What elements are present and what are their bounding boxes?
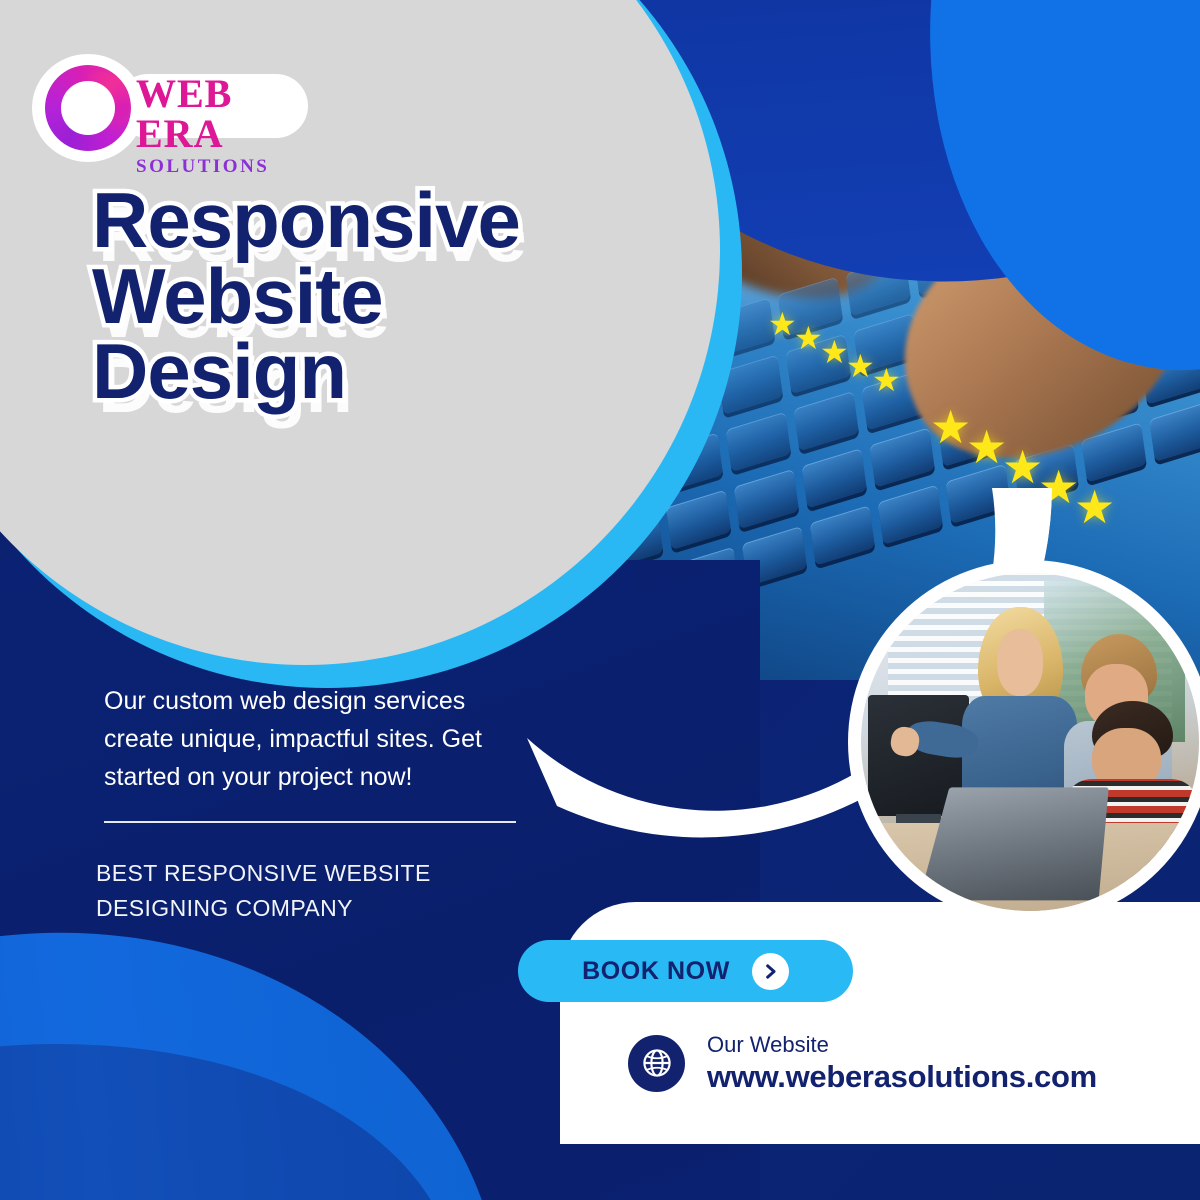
website-url[interactable]: www.weberasolutions.com	[707, 1060, 1097, 1094]
book-now-label: BOOK NOW	[582, 957, 730, 986]
circular-ring-logo-icon	[38, 60, 138, 156]
headline-block: Responsive Website Design Responsive Web…	[92, 183, 652, 410]
logo-text-block: WEB ERA SOLUTIONS	[136, 74, 316, 178]
website-label: Our Website	[707, 1032, 1097, 1057]
keyboard-key	[1149, 401, 1200, 461]
body-paragraph: Our custom web design services create un…	[104, 682, 534, 796]
logo-name: WEB ERA	[136, 74, 316, 154]
tagline-text: BEST RESPONSIVE WEBSITE DESIGNING COMPAN…	[96, 856, 516, 925]
logo-ring-inner	[61, 81, 115, 135]
globe-icon	[628, 1035, 685, 1092]
website-text-block: Our Website www.weberasolutions.com	[707, 1032, 1097, 1094]
divider-line	[104, 821, 516, 823]
logo-subtitle: SOLUTIONS	[136, 156, 316, 178]
team-photo-circle	[848, 560, 1200, 924]
brand-logo[interactable]: WEB ERA SOLUTIONS	[38, 52, 308, 158]
promo-banner: ★ ★ ★ ★ ★ ★ ★ ★ ★ ★ ★ ★ ★ ★ ★	[0, 0, 1200, 1200]
page-title: Responsive Website Design	[92, 183, 652, 410]
team-photo	[861, 573, 1199, 911]
open-laptop	[919, 787, 1109, 900]
book-now-button[interactable]: BOOK NOW	[518, 940, 853, 1002]
website-contact-row[interactable]: Our Website www.weberasolutions.com	[628, 1032, 1097, 1094]
footer-white-panel	[560, 902, 1200, 1144]
chevron-right-icon	[752, 953, 789, 990]
